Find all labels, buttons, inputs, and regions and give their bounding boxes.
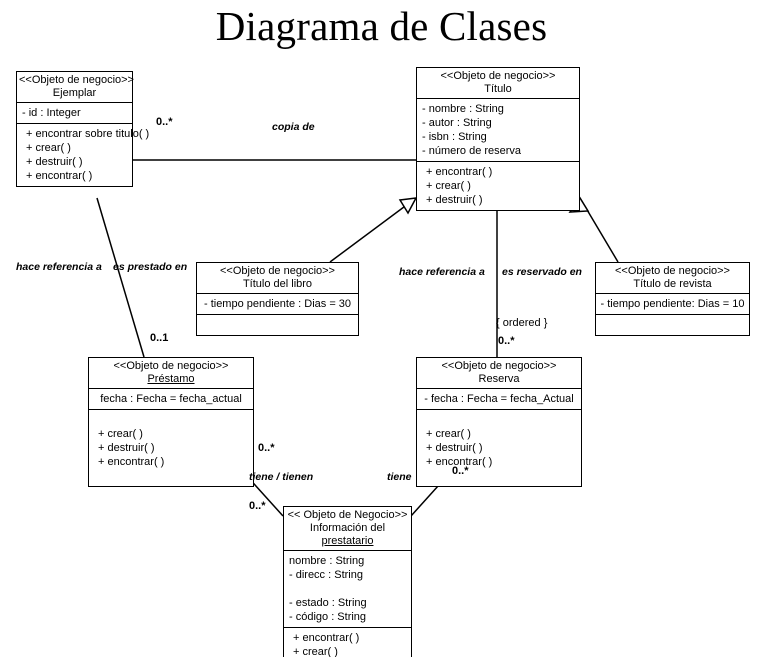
attribute-row: - direcc : String <box>289 568 406 582</box>
attribute-row: - isbn : String <box>422 130 574 144</box>
attribute-row: - nombre : String <box>422 102 574 116</box>
class-box-titulo-del-libro[interactable]: <<Objeto de negocio>> Título del libro -… <box>196 262 359 336</box>
class-operations-titulo-de-revista <box>596 315 749 335</box>
edge-label-hace-referencia-a-izquierda: hace referencia a <box>16 261 102 273</box>
attribute-row: - autor : String <box>422 116 574 130</box>
multiplicity-titulo-reserva: 0..* <box>498 335 515 347</box>
class-box-titulo-de-revista[interactable]: <<Objeto de negocio>> Título de revista … <box>595 262 750 336</box>
attribute-row: - número de reserva <box>422 144 574 158</box>
class-diagram-canvas: Diagrama de Clases <<Objeto de negocio <box>0 0 763 657</box>
attribute-row: - id : Integer <box>22 106 127 120</box>
class-name: Título del libro <box>199 278 356 291</box>
class-box-prestamo[interactable]: <<Objeto de negocio>> Préstamo fecha : F… <box>88 357 254 487</box>
operation-row: + crear( ) <box>426 179 574 193</box>
spacer-row <box>426 413 576 427</box>
spacer-row <box>426 469 576 483</box>
operation-row: + destruir( ) <box>426 441 576 455</box>
empty-operations-row <box>605 318 744 332</box>
attribute-row: - tiempo pendiente : Dias = 30 <box>200 297 355 311</box>
operation-row: + crear( ) <box>26 141 127 155</box>
spacer-row <box>289 582 406 596</box>
class-attributes-ejemplar: - id : Integer <box>17 103 132 123</box>
operation-row: + encontrar( ) <box>26 169 127 183</box>
multiplicity-reserva-prestatario-top: 0..* <box>452 465 469 477</box>
edge-titulorevista-titulo <box>580 198 618 262</box>
class-name-line2: prestatario <box>286 535 409 548</box>
multiplicity-ejemplar-titulo: 0..* <box>156 116 173 128</box>
class-name: Título de revista <box>598 278 747 291</box>
class-stereotype: <<Objeto de negocio>> <box>91 360 251 373</box>
operation-row: + crear( ) <box>293 645 406 657</box>
class-attributes-titulo-del-libro: - tiempo pendiente : Dias = 30 <box>197 294 358 314</box>
edge-label-tiene: tiene <box>387 471 412 483</box>
operation-row: + crear( ) <box>426 427 576 441</box>
operation-row: + encontrar( ) <box>98 455 248 469</box>
attribute-row: - código : String <box>289 610 406 624</box>
class-stereotype: <<Objeto de negocio>> <box>419 360 579 373</box>
class-stereotype: << Objeto de Negocio>> <box>286 509 409 522</box>
class-operations-reserva: + crear( ) + destruir( ) + encontrar( ) <box>417 410 581 486</box>
class-operations-titulo: + encontrar( ) + crear( ) + destruir( ) <box>417 162 579 210</box>
constraint-ordered: { ordered } <box>496 317 547 329</box>
edge-ejemplar-prestamo <box>97 198 144 357</box>
class-header-reserva: <<Objeto de negocio>> Reserva <box>417 358 581 388</box>
class-name: Reserva <box>419 373 579 386</box>
class-header-informacion-del-prestatario: << Objeto de Negocio>> Información del p… <box>284 507 411 550</box>
operation-row: + destruir( ) <box>98 441 248 455</box>
edge-label-es-reservado-en: es reservado en <box>502 266 582 278</box>
attribute-row: fecha : Fecha = fecha_actual <box>92 392 250 406</box>
class-attributes-prestamo: fecha : Fecha = fecha_actual <box>89 389 253 409</box>
class-name: Información del <box>286 522 409 535</box>
attribute-row: - estado : String <box>289 596 406 610</box>
edge-label-es-prestado-en: es prestado en <box>113 261 187 273</box>
edge-label-hace-referencia-a-derecha: hace referencia a <box>399 266 485 278</box>
class-operations-prestamo: + crear( ) + destruir( ) + encontrar( ) <box>89 410 253 486</box>
attribute-row: - fecha : Fecha = fecha_Actual <box>420 392 578 406</box>
operation-row: + encontrar sobre titulo( ) <box>26 127 127 141</box>
operation-row: + encontrar( ) <box>293 631 406 645</box>
class-header-titulo-de-revista: <<Objeto de negocio>> Título de revista <box>596 263 749 293</box>
class-header-titulo-del-libro: <<Objeto de negocio>> Título del libro <box>197 263 358 293</box>
class-operations-prestatario: + encontrar( ) + crear( ) + destruir( ) <box>284 628 411 657</box>
spacer-row <box>98 469 248 483</box>
class-operations-titulo-del-libro <box>197 315 358 335</box>
edge-label-copia-de: copia de <box>272 121 315 133</box>
class-attributes-reserva: - fecha : Fecha = fecha_Actual <box>417 389 581 409</box>
class-box-informacion-del-prestatario[interactable]: << Objeto de Negocio>> Información del p… <box>283 506 412 657</box>
operation-row: + encontrar( ) <box>426 455 576 469</box>
attribute-row: - tiempo pendiente: Dias = 10 <box>599 297 746 311</box>
class-operations-ejemplar: + encontrar sobre titulo( ) + crear( ) +… <box>17 124 132 186</box>
operation-row: + destruir( ) <box>426 193 574 207</box>
operation-row: + destruir( ) <box>26 155 127 169</box>
attribute-row: nombre : String <box>289 554 406 568</box>
empty-operations-row <box>206 318 353 332</box>
class-stereotype: <<Objeto de negocio>> <box>199 265 356 278</box>
class-header-titulo: <<Objeto de negocio>> Título <box>417 68 579 98</box>
operation-row: + crear( ) <box>98 427 248 441</box>
class-attributes-titulo-de-revista: - tiempo pendiente: Dias = 10 <box>596 294 749 314</box>
class-header-ejemplar: <<Objeto de negocio>> Ejemplar <box>17 72 132 102</box>
class-name: Ejemplar <box>19 87 130 100</box>
class-box-ejemplar[interactable]: <<Objeto de negocio>> Ejemplar - id : In… <box>16 71 133 187</box>
class-header-prestamo: <<Objeto de negocio>> Préstamo <box>89 358 253 388</box>
class-box-titulo[interactable]: <<Objeto de negocio>> Título - nombre : … <box>416 67 580 211</box>
edge-titulolibro-titulo <box>330 198 416 262</box>
class-name: Título <box>419 83 577 96</box>
operation-row: + encontrar( ) <box>426 165 574 179</box>
class-attributes-prestatario: nombre : String - direcc : String - esta… <box>284 551 411 627</box>
spacer-row <box>98 413 248 427</box>
class-stereotype: <<Objeto de negocio>> <box>19 74 130 87</box>
class-attributes-titulo: - nombre : String - autor : String - isb… <box>417 99 579 161</box>
class-stereotype: <<Objeto de negocio>> <box>419 70 577 83</box>
class-stereotype: <<Objeto de negocio>> <box>598 265 747 278</box>
multiplicity-prestamo-prestatario-bottom: 0..* <box>249 500 266 512</box>
page-title: Diagrama de Clases <box>0 0 763 52</box>
class-name: Préstamo <box>91 373 251 386</box>
edge-label-tiene-tienen: tiene / tienen <box>249 471 313 483</box>
class-box-reserva[interactable]: <<Objeto de negocio>> Reserva - fecha : … <box>416 357 582 487</box>
multiplicity-prestamo-prestatario-top: 0..* <box>258 442 275 454</box>
multiplicity-ejemplar-prestamo: 0..1 <box>150 332 168 344</box>
generalization-arrow-libro <box>400 198 416 213</box>
